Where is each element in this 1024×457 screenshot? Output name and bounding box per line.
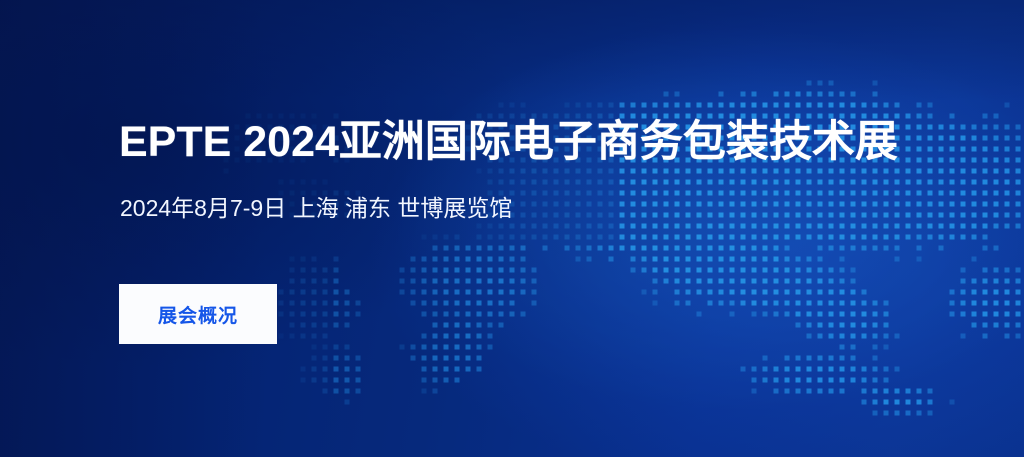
exhibition-hero-banner: EPTE 2024亚洲国际电子商务包装技术展 2024年8月7-9日 上海 浦东… [0,0,1024,457]
event-date-location: 2024年8月7-9日 上海 浦东 世博展览馆 [120,195,512,223]
exhibition-overview-button[interactable]: 展会概况 [119,284,277,344]
page-title: EPTE 2024亚洲国际电子商务包装技术展 [119,119,898,166]
banner-content: EPTE 2024亚洲国际电子商务包装技术展 2024年8月7-9日 上海 浦东… [119,0,979,457]
